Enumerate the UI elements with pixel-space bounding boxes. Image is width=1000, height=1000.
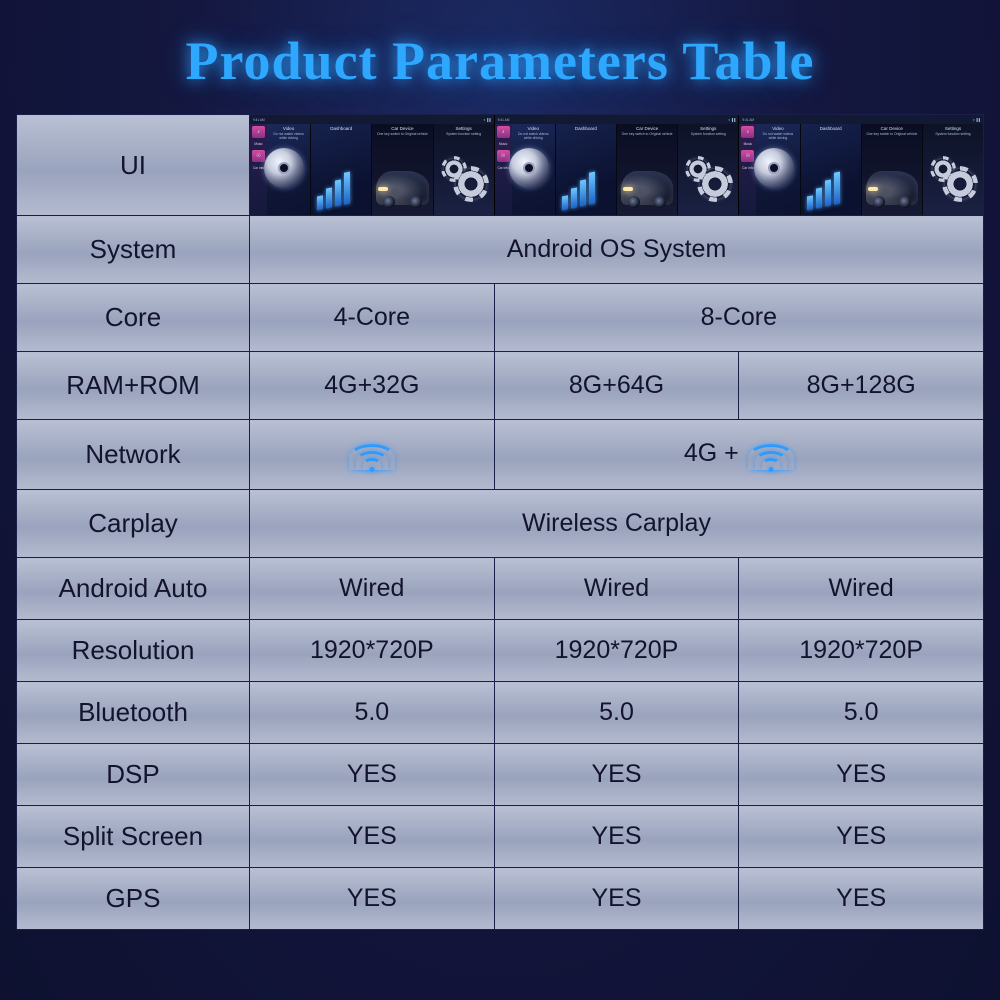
ui-device-preview: 9:41 AM ▾ ▐▐ ♪ Music ☉ xyxy=(495,115,740,215)
wifi-icon xyxy=(349,438,395,472)
panel-sub-car-device: One key switch to Original vehicle xyxy=(862,131,922,137)
table-row: DSP YES YES YES xyxy=(17,744,984,806)
device-body: ♪ Music ☉ Car Info Video Do not watch vi… xyxy=(739,124,983,215)
row-label-android-auto: Android Auto xyxy=(17,558,250,620)
gear-icon xyxy=(688,159,708,179)
panel-car-device: Car Device One key switch to Original ve… xyxy=(617,124,678,215)
cell-carplay-value: Wireless Carplay xyxy=(250,490,984,558)
cell-resolution-1: 1920*720P xyxy=(250,620,495,682)
cell-resolution-3: 1920*720P xyxy=(739,620,984,682)
rail-label-music: Music xyxy=(499,142,507,146)
panel-title-video: Video xyxy=(267,124,310,131)
panel-title-car-device: Car Device xyxy=(372,124,432,131)
page-title: Product Parameters Table xyxy=(0,0,1000,88)
table-row: Split Screen YES YES YES xyxy=(17,806,984,868)
rail-label-music: Music xyxy=(254,142,262,146)
music-icon: ♪ xyxy=(252,126,265,138)
page-root: Product Parameters Table UI 9:41 AM ▾ ▐▐ xyxy=(0,0,1000,1000)
headlight-icon xyxy=(868,187,878,191)
cell-gps-2: YES xyxy=(494,868,739,930)
cell-split-screen-1: YES xyxy=(250,806,495,868)
panel-sub-video: Do not watch videos while driving xyxy=(267,131,310,142)
gear-icon xyxy=(444,159,464,179)
cell-split-screen-3: YES xyxy=(739,806,984,868)
device-status-bar: 9:41 AM ▾ ▐▐ xyxy=(250,115,494,124)
table-row: Android Auto Wired Wired Wired xyxy=(17,558,984,620)
panel-sub-settings: System function setting xyxy=(923,131,983,137)
rail-label-car-info: Car Info xyxy=(498,166,509,170)
panel-video: ♪ Music ☉ Car Info Video Do not watch vi… xyxy=(250,124,311,215)
gear-icon xyxy=(933,159,953,179)
cell-bluetooth-3: 5.0 xyxy=(739,682,984,744)
cell-ram-2: 8G+64G xyxy=(494,352,739,420)
panel-sub-video: Do not watch videos while driving xyxy=(756,131,799,142)
panel-title-settings: Settings xyxy=(923,124,983,131)
panel-title-dashboard: Dashboard xyxy=(801,124,861,131)
row-label-dsp: DSP xyxy=(17,744,250,806)
panel-title-video: Video xyxy=(756,124,799,131)
panel-settings: Settings System function setting xyxy=(923,124,983,215)
table-row: Resolution 1920*720P 1920*720P 1920*720P xyxy=(17,620,984,682)
rail-label-music: Music xyxy=(744,142,752,146)
row-label-gps: GPS xyxy=(17,868,250,930)
headlight-icon xyxy=(623,187,633,191)
table-row: Carplay Wireless Carplay xyxy=(17,490,984,558)
table-row: GPS YES YES YES xyxy=(17,868,984,930)
row-label-ui: UI xyxy=(17,115,250,216)
cell-ram-3: 8G+128G xyxy=(739,352,984,420)
row-label-bluetooth: Bluetooth xyxy=(17,682,250,744)
panel-settings: Settings System function setting xyxy=(678,124,738,215)
cell-dsp-1: YES xyxy=(250,744,495,806)
row-label-core: Core xyxy=(17,284,250,352)
device-body: ♪ Music ☉ Car Info Video Do not watch vi… xyxy=(495,124,739,215)
wifi-icon xyxy=(748,438,794,472)
panel-dashboard: Dashboard xyxy=(801,124,862,215)
video-app-area: Video Do not watch videos while driving xyxy=(267,124,310,215)
car-info-icon: ☉ xyxy=(252,150,265,162)
panel-video: ♪ Music ☉ Car Info Video Do not watch vi… xyxy=(495,124,556,215)
cell-core-2: 8-Core xyxy=(494,284,983,352)
panel-settings: Settings System function setting xyxy=(434,124,494,215)
status-time: 9:41 AM xyxy=(498,118,510,122)
row-label-network: Network xyxy=(17,420,250,490)
table-row: Core 4-Core 8-Core xyxy=(17,284,984,352)
panel-dashboard: Dashboard xyxy=(556,124,617,215)
car-icon xyxy=(376,171,428,205)
row-label-split-screen: Split Screen xyxy=(17,806,250,868)
device-status-bar: 9:41 AM ▾ ▐▐ xyxy=(495,115,739,124)
panel-car-device: Car Device One key switch to Original ve… xyxy=(862,124,923,215)
panel-title-car-device: Car Device xyxy=(617,124,677,131)
parameters-table-wrapper: UI 9:41 AM ▾ ▐▐ xyxy=(16,114,984,930)
ui-device-preview: 9:41 AM ▾ ▐▐ ♪ Music ☉ xyxy=(739,115,983,215)
disc-icon xyxy=(754,148,794,188)
video-app-area: Video Do not watch videos while driving xyxy=(756,124,799,215)
network-4g-label: 4G + xyxy=(684,439,739,467)
cell-android-auto-3: Wired xyxy=(739,558,984,620)
status-icons: ▾ ▐▐ xyxy=(728,118,735,122)
cell-bluetooth-1: 5.0 xyxy=(250,682,495,744)
rail-label-car-info: Car Info xyxy=(253,166,264,170)
disc-icon xyxy=(264,148,304,188)
cell-dsp-3: YES xyxy=(739,744,984,806)
row-label-carplay: Carplay xyxy=(17,490,250,558)
cell-system-value: Android OS System xyxy=(250,216,984,284)
panel-sub-video: Do not watch videos while driving xyxy=(512,131,555,142)
row-label-resolution: Resolution xyxy=(17,620,250,682)
rail-label-car-info: Car Info xyxy=(742,166,753,170)
cell-network-1 xyxy=(250,420,495,490)
cell-network-2: 4G + xyxy=(494,420,983,490)
table-row: RAM+ROM 4G+32G 8G+64G 8G+128G xyxy=(17,352,984,420)
status-time: 9:41 AM xyxy=(253,118,265,122)
car-icon xyxy=(866,171,918,205)
row-label-ram-rom: RAM+ROM xyxy=(17,352,250,420)
video-app-area: Video Do not watch videos while driving xyxy=(512,124,555,215)
table-row: Bluetooth 5.0 5.0 5.0 xyxy=(17,682,984,744)
status-icons: ▾ ▐▐ xyxy=(484,118,491,122)
table-row: UI 9:41 AM ▾ ▐▐ xyxy=(17,115,984,216)
cell-android-auto-1: Wired xyxy=(250,558,495,620)
panel-title-car-device: Car Device xyxy=(862,124,922,131)
disc-icon xyxy=(509,148,549,188)
car-info-icon: ☉ xyxy=(741,150,754,162)
panel-sub-settings: System function setting xyxy=(678,131,738,137)
row-label-system: System xyxy=(17,216,250,284)
cell-gps-1: YES xyxy=(250,868,495,930)
parameters-table: UI 9:41 AM ▾ ▐▐ xyxy=(16,114,984,930)
panel-car-device: Car Device One key switch to Original ve… xyxy=(372,124,433,215)
dashboard-bars-icon xyxy=(807,171,840,210)
cell-resolution-2: 1920*720P xyxy=(494,620,739,682)
status-time: 9:41 AM xyxy=(742,118,754,122)
cell-gps-3: YES xyxy=(739,868,984,930)
dashboard-bars-icon xyxy=(562,171,595,210)
cell-split-screen-2: YES xyxy=(494,806,739,868)
table-row: System Android OS System xyxy=(17,216,984,284)
panel-title-video: Video xyxy=(512,124,555,131)
panel-sub-settings: System function setting xyxy=(434,131,494,137)
status-icons: ▾ ▐▐ xyxy=(973,118,980,122)
cell-ram-1: 4G+32G xyxy=(250,352,495,420)
ui-preview-strip: 9:41 AM ▾ ▐▐ ♪ Music ☉ xyxy=(250,115,983,215)
headlight-icon xyxy=(378,187,388,191)
panel-title-settings: Settings xyxy=(434,124,494,131)
music-icon: ♪ xyxy=(741,126,754,138)
panel-title-settings: Settings xyxy=(678,124,738,131)
ui-preview-cell: 9:41 AM ▾ ▐▐ ♪ Music ☉ xyxy=(250,115,984,216)
car-icon xyxy=(621,171,673,205)
car-info-icon: ☉ xyxy=(497,150,510,162)
cell-dsp-2: YES xyxy=(494,744,739,806)
music-icon: ♪ xyxy=(497,126,510,138)
cell-android-auto-2: Wired xyxy=(494,558,739,620)
panel-sub-car-device: One key switch to Original vehicle xyxy=(372,131,432,137)
panel-dashboard: Dashboard xyxy=(311,124,372,215)
table-row: Network 4G + xyxy=(17,420,984,490)
device-body: ♪ Music ☉ Car Info Video Do not watch vi… xyxy=(250,124,494,215)
dashboard-bars-icon xyxy=(317,171,350,210)
cell-bluetooth-2: 5.0 xyxy=(494,682,739,744)
ui-device-preview: 9:41 AM ▾ ▐▐ ♪ Music ☉ xyxy=(250,115,495,215)
panel-video: ♪ Music ☉ Car Info Video Do not watch vi… xyxy=(739,124,800,215)
device-status-bar: 9:41 AM ▾ ▐▐ xyxy=(739,115,983,124)
panel-title-dashboard: Dashboard xyxy=(311,124,371,131)
cell-core-1: 4-Core xyxy=(250,284,495,352)
panel-title-dashboard: Dashboard xyxy=(556,124,616,131)
panel-sub-car-device: One key switch to Original vehicle xyxy=(617,131,677,137)
